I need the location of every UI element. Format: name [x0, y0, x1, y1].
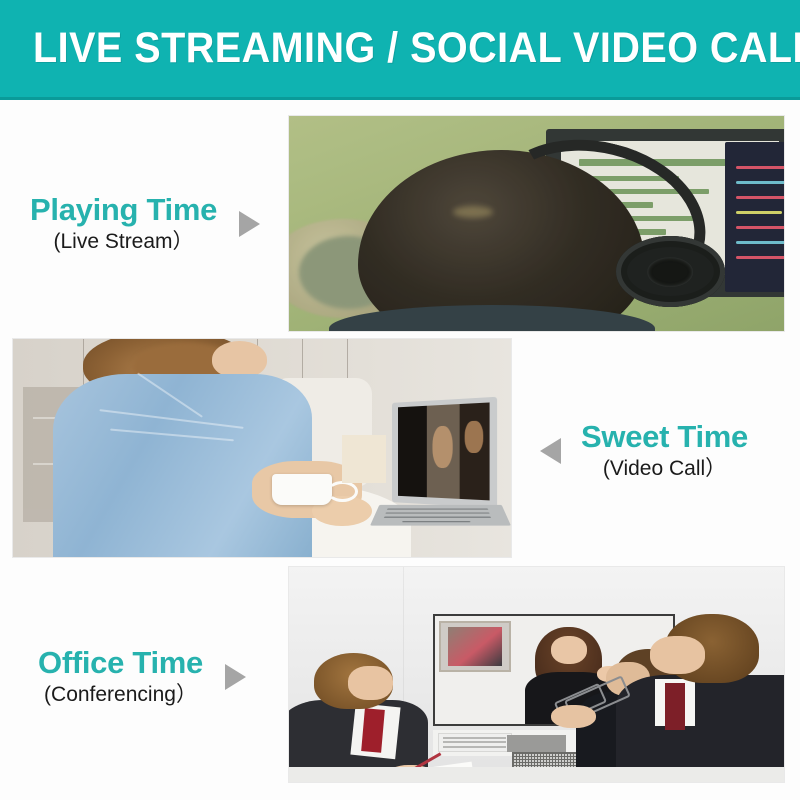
- photo2-laptop-screen: [397, 403, 489, 501]
- photo2-laptop: [387, 400, 513, 535]
- photo2-paper-bag: [342, 435, 387, 483]
- photo3-person-right-head: [650, 636, 704, 675]
- label-sweet-time-subtitle: (Video Call）: [603, 455, 726, 482]
- triangle-right-icon: [225, 664, 246, 690]
- triangle-right-icon: [239, 211, 260, 237]
- photo-playing-time: [288, 115, 785, 332]
- photo3-person-right-tie: [665, 683, 685, 730]
- label-playing-time: Playing Time (Live Stream）: [30, 193, 260, 256]
- photo3-person-left-head: [348, 666, 393, 700]
- photo2-woman-face: [212, 341, 267, 378]
- label-playing-time-text: Playing Time (Live Stream）: [30, 193, 217, 256]
- label-playing-time-title: Playing Time: [30, 193, 217, 226]
- photo3-remote-participant-face: [551, 636, 587, 664]
- label-office-time: Office Time (Conferencing）: [38, 646, 246, 709]
- label-sweet-time: Sweet Time (Video Call）: [540, 420, 748, 483]
- photo2-laptop-keyboard: [370, 505, 511, 526]
- label-playing-time-subtitle: (Live Stream）: [30, 228, 217, 255]
- photo3-person-mid-hand: [551, 705, 596, 729]
- photo2-coffee-cup-handle: [327, 481, 358, 502]
- photo-office-time: [288, 566, 785, 783]
- photo3-vent-left: [438, 733, 512, 752]
- photo2-coffee-cup: [272, 474, 332, 505]
- photo-sweet-time: [12, 338, 512, 558]
- photo1-color-tint: [289, 116, 784, 331]
- label-sweet-time-text: Sweet Time (Video Call）: [581, 420, 748, 483]
- photo3-control-panel: [507, 735, 566, 752]
- photo2-laptop-lid: [391, 397, 496, 509]
- photo3-wall-art: [439, 621, 511, 673]
- label-office-time-text: Office Time (Conferencing）: [38, 646, 203, 709]
- photo3-conference-table: [289, 767, 784, 783]
- header-banner: LIVE STREAMING / SOCIAL VIDEO CALL: [0, 0, 800, 100]
- page-title: LIVE STREAMING / SOCIAL VIDEO CALL: [33, 24, 800, 73]
- product-feature-infographic: LIVE STREAMING / SOCIAL VIDEO CALL: [0, 0, 800, 800]
- label-office-time-title: Office Time: [38, 646, 203, 679]
- photo3-person-left-tie: [361, 708, 384, 753]
- label-sweet-time-title: Sweet Time: [581, 420, 748, 453]
- label-office-time-subtitle: (Conferencing）: [38, 681, 203, 708]
- triangle-left-icon: [540, 438, 561, 464]
